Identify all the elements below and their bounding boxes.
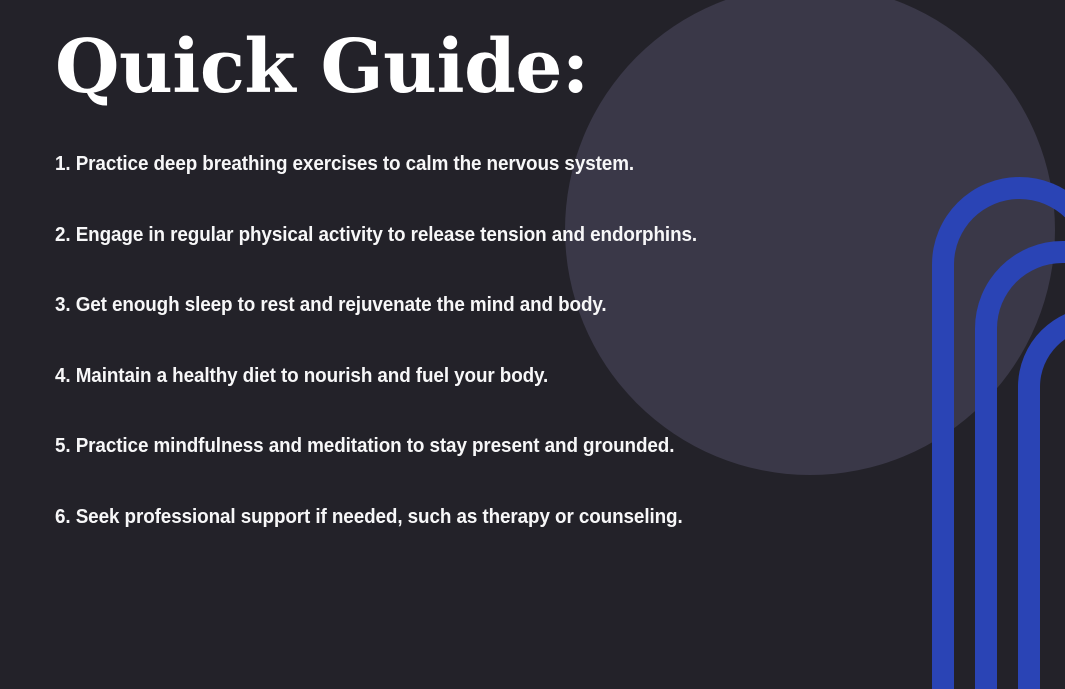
poster-content: Quick Guide: 1. Practice deep breathing … <box>0 0 1065 529</box>
list-item: 5. Practice mindfulness and meditation t… <box>55 434 984 459</box>
page-title: Quick Guide: <box>55 28 1065 108</box>
list-item: 6. Seek professional support if needed, … <box>55 505 984 530</box>
quick-guide-poster: Quick Guide: 1. Practice deep breathing … <box>0 0 1065 689</box>
list-item: 1. Practice deep breathing exercises to … <box>55 152 984 177</box>
list-item: 4. Maintain a healthy diet to nourish an… <box>55 364 984 389</box>
list-item: 2. Engage in regular physical activity t… <box>55 223 984 248</box>
tips-list: 1. Practice deep breathing exercises to … <box>55 152 1065 530</box>
list-item: 3. Get enough sleep to rest and rejuvena… <box>55 293 984 318</box>
